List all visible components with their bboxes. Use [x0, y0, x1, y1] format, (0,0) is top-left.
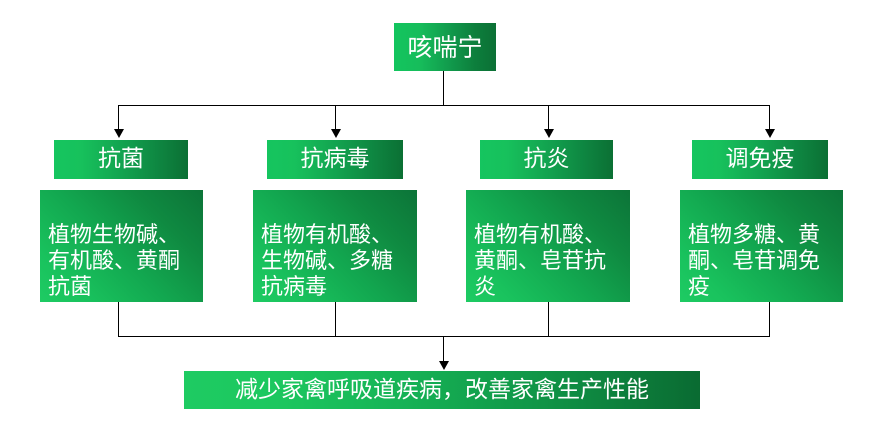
- connector-drop-branch-1: [118, 105, 119, 130]
- branch-content-text: 植物多糖、黄酮、皂苷调免疫: [688, 223, 820, 300]
- connector-riser-branch-3: [548, 302, 549, 337]
- branch-header-label: 抗病毒: [301, 148, 370, 171]
- root-node-kechuanning[interactable]: 咳喘宁: [394, 23, 496, 71]
- branch-header-antiinflammatory[interactable]: 抗炎: [480, 140, 613, 179]
- branch-header-antibacterial[interactable]: 抗菌: [54, 140, 188, 179]
- branch-content-immunomodulation[interactable]: 植物多糖、黄酮、皂苷调免疫: [680, 190, 843, 302]
- connector-drop-branch-4: [769, 105, 770, 130]
- branch-header-immunomodulation[interactable]: 调免疫: [692, 140, 828, 179]
- connector-drop-branch-2: [335, 105, 336, 130]
- connector-top-bus: [118, 105, 769, 106]
- arrowhead-branch-3: [544, 129, 554, 138]
- root-node-label: 咳喘宁: [407, 35, 482, 60]
- flowchart-canvas: 咳喘宁 抗菌 植物生物碱、有机酸、黄酮抗菌 抗病毒 植物有机酸、生物碱、多糖抗病…: [0, 0, 883, 437]
- branch-content-antiinflammatory[interactable]: 植物有机酸、黄酮、皂苷抗炎: [466, 190, 630, 302]
- connector-riser-branch-2: [335, 302, 336, 337]
- arrowhead-outcome: [439, 361, 449, 370]
- outcome-node[interactable]: 减少家禽呼吸道疾病，改善家禽生产性能: [184, 371, 700, 409]
- branch-header-antiviral[interactable]: 抗病毒: [267, 140, 403, 179]
- connector-riser-branch-4: [769, 302, 770, 337]
- arrowhead-branch-1: [114, 129, 124, 138]
- branch-header-label: 抗菌: [98, 148, 144, 171]
- arrowhead-branch-2: [331, 129, 341, 138]
- branch-content-antibacterial[interactable]: 植物生物碱、有机酸、黄酮抗菌: [40, 190, 203, 302]
- connector-riser-branch-1: [118, 302, 119, 337]
- branch-content-text: 植物生物碱、有机酸、黄酮抗菌: [48, 223, 180, 300]
- outcome-node-label: 减少家禽呼吸道疾病，改善家禽生产性能: [235, 379, 649, 402]
- connector-outcome-stem: [443, 336, 444, 362]
- branch-content-text: 植物有机酸、黄酮、皂苷抗炎: [474, 223, 606, 300]
- branch-header-label: 抗炎: [524, 148, 570, 171]
- connector-drop-branch-3: [548, 105, 549, 130]
- branch-content-antiviral[interactable]: 植物有机酸、生物碱、多糖抗病毒: [253, 190, 417, 302]
- arrowhead-branch-4: [765, 129, 775, 138]
- branch-header-label: 调免疫: [726, 148, 795, 171]
- connector-root-stem: [443, 71, 444, 106]
- branch-content-text: 植物有机酸、生物碱、多糖抗病毒: [261, 223, 393, 300]
